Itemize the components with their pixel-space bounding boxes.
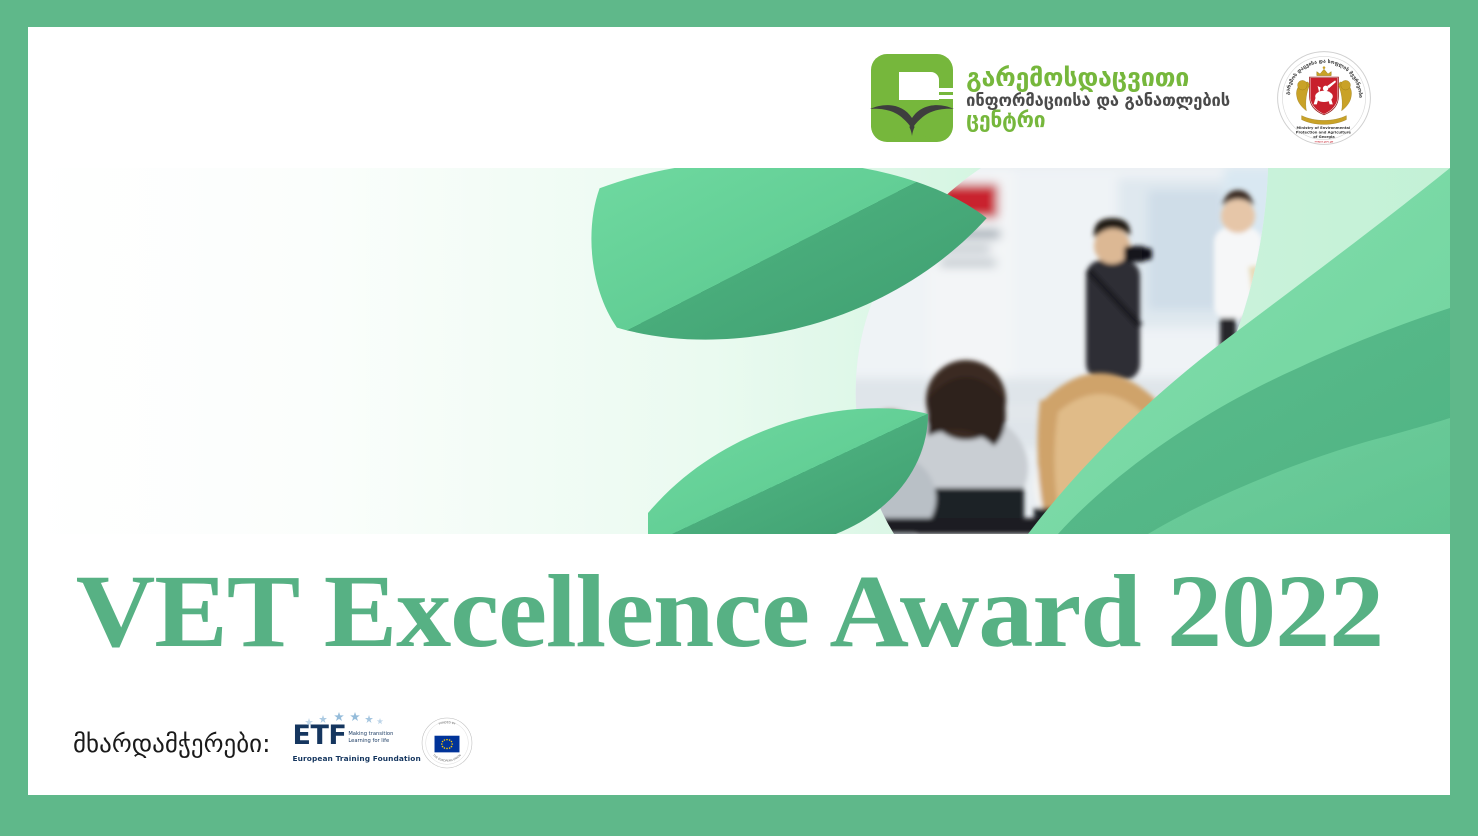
- eiec-logo-line1: გარემოსდაცვითი: [966, 65, 1230, 91]
- header-band: გარემოსდაცვითი ინფორმაციისა და განათლები…: [28, 27, 1450, 168]
- seal-inner-line1: Ministry of Environmental: [1296, 126, 1350, 130]
- supporters-footer: მხარდამჭერები: ETF: [73, 717, 473, 769]
- eiec-leaf-book-logo-mark-icon: [869, 52, 955, 144]
- page-title: VET Excellence Award 2022: [28, 560, 1383, 664]
- supporters-label: მხარდამჭერები:: [73, 729, 271, 758]
- eiec-logo-line2: ინფორმაციისა და განათლების: [966, 92, 1230, 109]
- seal-inner-line2: Protection and Agriculture: [1296, 130, 1352, 134]
- award-ceremony-photo-banner: [28, 168, 1450, 534]
- etf-stars-icon: [303, 710, 389, 725]
- seal-inner-line4: mepa.gov.ge: [1315, 139, 1334, 143]
- etf-logo: ETF Making transition Learning for life …: [293, 723, 399, 763]
- eiec-logo: გარემოსდაცვითი ინფორმაციისა და განათლები…: [869, 52, 1230, 144]
- poster-canvas: გარემოსდაცვითი ინფორმაციისა და განათლები…: [0, 0, 1478, 836]
- etf-tagline: Making transition Learning for life: [348, 731, 393, 749]
- european-union-emblem-icon: FUNDED BY THE EUROPEAN UNION: [421, 717, 473, 769]
- seal-inner-line3: of Georgia: [1313, 135, 1335, 139]
- etf-letters: ETF: [293, 723, 347, 749]
- etf-full-name: European Training Foundation: [293, 754, 421, 763]
- logo-cluster: გარემოსდაცვითი ინფორმაციისა და განათლები…: [869, 50, 1372, 146]
- etf-tagline-line2: Learning for life: [348, 738, 393, 745]
- etf-logo-row: ETF Making transition Learning for life: [293, 723, 394, 749]
- etf-tagline-line1: Making transition: [348, 731, 393, 738]
- eiec-logo-line3: ცენტრი: [966, 110, 1230, 132]
- ministry-of-environmental-protection-and-agriculture-seal-icon: საქართველოს გარემოს დაცვისა და სოფლის მე…: [1276, 50, 1372, 146]
- title-block: VET Excellence Award 2022: [28, 534, 1450, 689]
- poster-inner-panel: გარემოსდაცვითი ინფორმაციისა და განათლები…: [28, 27, 1450, 795]
- eiec-wordmark: გარემოსდაცვითი ინფორმაციისა და განათლები…: [966, 63, 1230, 132]
- hero-artwork: [28, 168, 1450, 534]
